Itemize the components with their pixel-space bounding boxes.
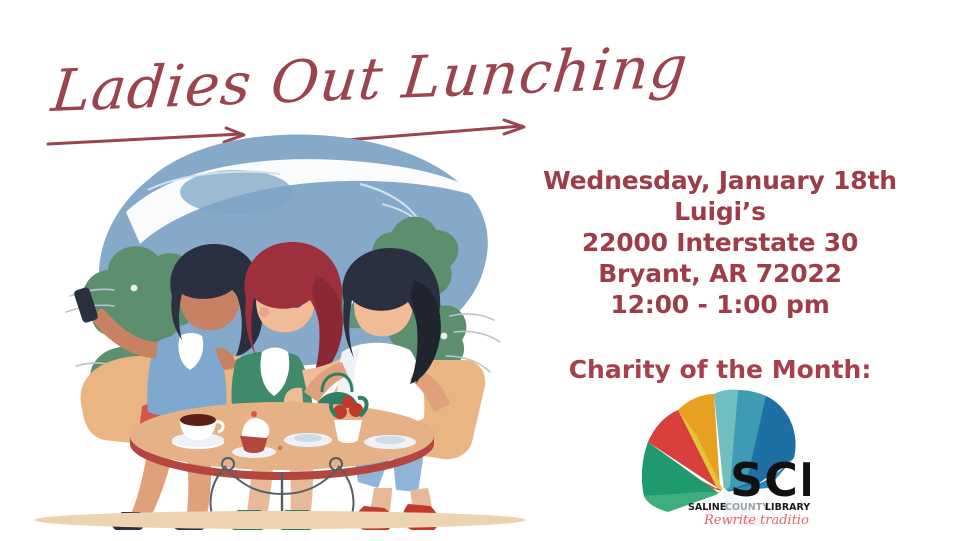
logo-fullname: SALINE COUNTY LIBRARY — [688, 502, 810, 513]
logo-name-county: COUNTY — [725, 502, 769, 513]
event-venue: Luigi’s — [510, 196, 930, 227]
logo-name-saline: SALINE — [688, 502, 726, 513]
event-street: 22000 Interstate 30 — [510, 227, 930, 258]
logo-acronym: SCL — [730, 453, 810, 507]
logo-tagline: Rewrite tradition — [703, 513, 810, 528]
scl-logo: SCL SALINE COUNTY LIBRARY Rewrite tradit… — [638, 388, 810, 528]
charity-of-the-month-label: Charity of the Month: — [510, 355, 930, 384]
event-date: Wednesday, January 18th — [510, 165, 930, 196]
poster-title-text: Ladies Out Lunching — [49, 41, 597, 120]
event-time: 12:00 - 1:00 pm — [510, 289, 930, 320]
illustration-three-women-at-cafe-table — [30, 120, 530, 530]
poster-canvas: Ladies Out Lunching — [0, 0, 960, 541]
logo-name-library: LIBRARY — [765, 502, 810, 513]
event-city-state-zip: Bryant, AR 72022 — [510, 258, 930, 289]
ground-shadow — [34, 511, 526, 529]
event-details: Wednesday, January 18th Luigi’s 22000 In… — [510, 165, 930, 320]
